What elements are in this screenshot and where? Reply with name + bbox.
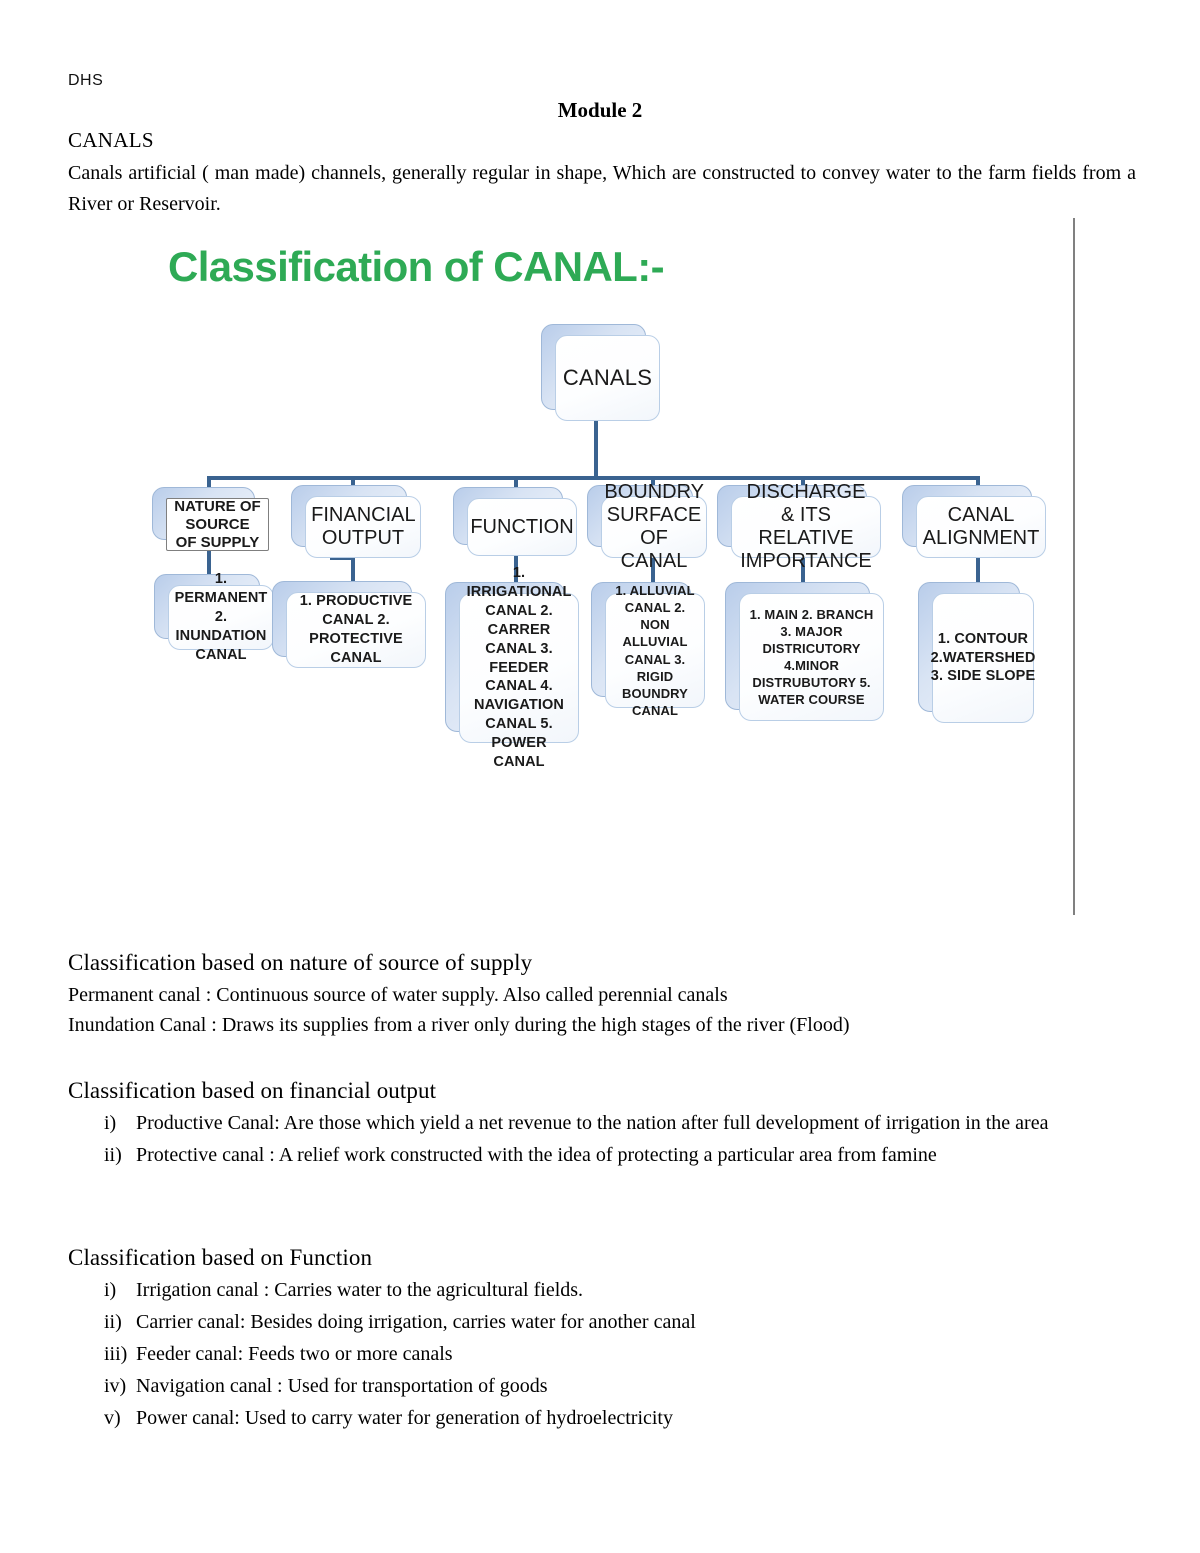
- list-item: i) Productive Canal: Are those which yie…: [68, 1108, 1138, 1138]
- list-item: iii) Feeder canal: Feeds two or more can…: [68, 1339, 1138, 1369]
- node-category-label: FUNCTION: [467, 498, 577, 556]
- connector-financial-to-items: [351, 556, 355, 584]
- list-item: iv) Navigation canal : Used for transpor…: [68, 1371, 1138, 1401]
- list-item: v) Power canal: Used to carry water for …: [68, 1403, 1138, 1433]
- list-item: i) Irrigation canal : Carries water to t…: [68, 1275, 1138, 1305]
- node-category-canal-alignment[interactable]: CANAL ALIGNMENT: [916, 496, 1046, 558]
- node-root-canals[interactable]: CANALS: [555, 335, 660, 421]
- node-category-label: FINANCIAL OUTPUT: [305, 496, 421, 558]
- section-heading: Classification based on financial output: [68, 1078, 1138, 1104]
- node-category-label: BOUNDRY SURFACE OF CANAL: [601, 496, 707, 558]
- list-marker: iv): [68, 1371, 136, 1401]
- node-items-label: 1. CONTOUR 2.WATERSHED 3. SIDE SLOPE: [932, 593, 1034, 723]
- connector-horizontal-bus: [209, 476, 980, 480]
- list-text: Irrigation canal : Carries water to the …: [136, 1275, 1138, 1305]
- list-item: ii) Protective canal : A relief work con…: [68, 1140, 1138, 1170]
- classification-diagram: Classification of CANAL:- CANALS NATURE …: [0, 215, 1200, 925]
- list-text: Productive Canal: Are those which yield …: [136, 1108, 1138, 1138]
- node-category-label: NATURE OF SOURCE OF SUPPLY: [166, 498, 269, 551]
- section-line: Inundation Canal : Draws its supplies fr…: [68, 1010, 1138, 1040]
- section-function: Classification based on Function i) Irri…: [68, 1245, 1138, 1433]
- section-heading: Classification based on Function: [68, 1245, 1138, 1271]
- ordered-list: i) Irrigation canal : Carries water to t…: [68, 1275, 1138, 1433]
- node-items-boundry-surface-of-canal[interactable]: 1. ALLUVIAL CANAL 2. NON ALLUVIAL CANAL …: [605, 593, 705, 708]
- list-marker: i): [68, 1108, 136, 1138]
- list-text: Carrier canal: Besides doing irrigation,…: [136, 1307, 1138, 1337]
- node-items-financial-output[interactable]: 1. PRODUCTIVE CANAL 2. PROTECTIVE CANAL: [286, 592, 426, 668]
- section-financial-output: Classification based on financial output…: [68, 1078, 1138, 1170]
- node-items-nature-of-source-of-supply[interactable]: 1. PERMANENT 2. INUNDATION CANAL: [168, 585, 274, 650]
- list-text: Power canal: Used to carry water for gen…: [136, 1403, 1138, 1433]
- figure-title: Classification of CANAL:-: [168, 243, 664, 291]
- node-items-discharge-relative-importance[interactable]: 1. MAIN 2. BRANCH 3. MAJOR DISTRICUTORY …: [739, 593, 884, 721]
- ordered-list: i) Productive Canal: Are those which yie…: [68, 1108, 1138, 1170]
- section-line: Permanent canal : Continuous source of w…: [68, 980, 1138, 1010]
- document-page: DHS Module 2 CANALS Canals artificial ( …: [0, 0, 1200, 1553]
- section-heading: Classification based on nature of source…: [68, 950, 1138, 976]
- node-category-financial-output[interactable]: FINANCIAL OUTPUT: [305, 496, 421, 558]
- node-items-canal-alignment[interactable]: 1. CONTOUR 2.WATERSHED 3. SIDE SLOPE: [932, 593, 1034, 723]
- list-marker: iii): [68, 1339, 136, 1369]
- node-category-label: CANAL ALIGNMENT: [916, 496, 1046, 558]
- list-text: Protective canal : A relief work constru…: [136, 1140, 1138, 1170]
- list-text: Feeder canal: Feeds two or more canals: [136, 1339, 1138, 1369]
- node-items-function[interactable]: 1. IRRIGATIONAL CANAL 2. CARRER CANAL 3.…: [459, 593, 579, 743]
- node-category-discharge-relative-importance[interactable]: DISCHARGE & ITS RELATIVE IMPORTANCE: [731, 496, 881, 558]
- list-marker: v): [68, 1403, 136, 1433]
- list-marker: ii): [68, 1140, 136, 1170]
- list-text: Navigation canal : Used for transportati…: [136, 1371, 1138, 1401]
- list-item: ii) Carrier canal: Besides doing irrigat…: [68, 1307, 1138, 1337]
- node-category-label: DISCHARGE & ITS RELATIVE IMPORTANCE: [731, 496, 881, 558]
- node-items-label: 1. MAIN 2. BRANCH 3. MAJOR DISTRICUTORY …: [739, 593, 884, 721]
- section-heading-canals: CANALS: [68, 128, 154, 153]
- node-category-nature-of-source-of-supply[interactable]: NATURE OF SOURCE OF SUPPLY: [166, 498, 269, 551]
- node-items-label: 1. PRODUCTIVE CANAL 2. PROTECTIVE CANAL: [286, 592, 426, 668]
- document-watermark: DHS: [68, 72, 103, 90]
- page-title: Module 2: [0, 98, 1200, 123]
- node-category-boundry-surface-of-canal[interactable]: BOUNDRY SURFACE OF CANAL: [601, 496, 707, 558]
- node-root-label: CANALS: [555, 335, 660, 421]
- node-items-label: 1. IRRIGATIONAL CANAL 2. CARRER CANAL 3.…: [459, 593, 579, 743]
- connector-root-down: [594, 420, 598, 478]
- node-items-label: 1. ALLUVIAL CANAL 2. NON ALLUVIAL CANAL …: [605, 593, 705, 708]
- list-marker: ii): [68, 1307, 136, 1337]
- node-items-label: 1. PERMANENT 2. INUNDATION CANAL: [168, 585, 274, 650]
- node-category-function[interactable]: FUNCTION: [467, 498, 577, 556]
- figure-right-rule: [1073, 218, 1075, 915]
- section-nature-of-source-of-supply: Classification based on nature of source…: [68, 950, 1138, 1040]
- intro-paragraph: Canals artificial ( man made) channels, …: [68, 158, 1136, 220]
- list-marker: i): [68, 1275, 136, 1305]
